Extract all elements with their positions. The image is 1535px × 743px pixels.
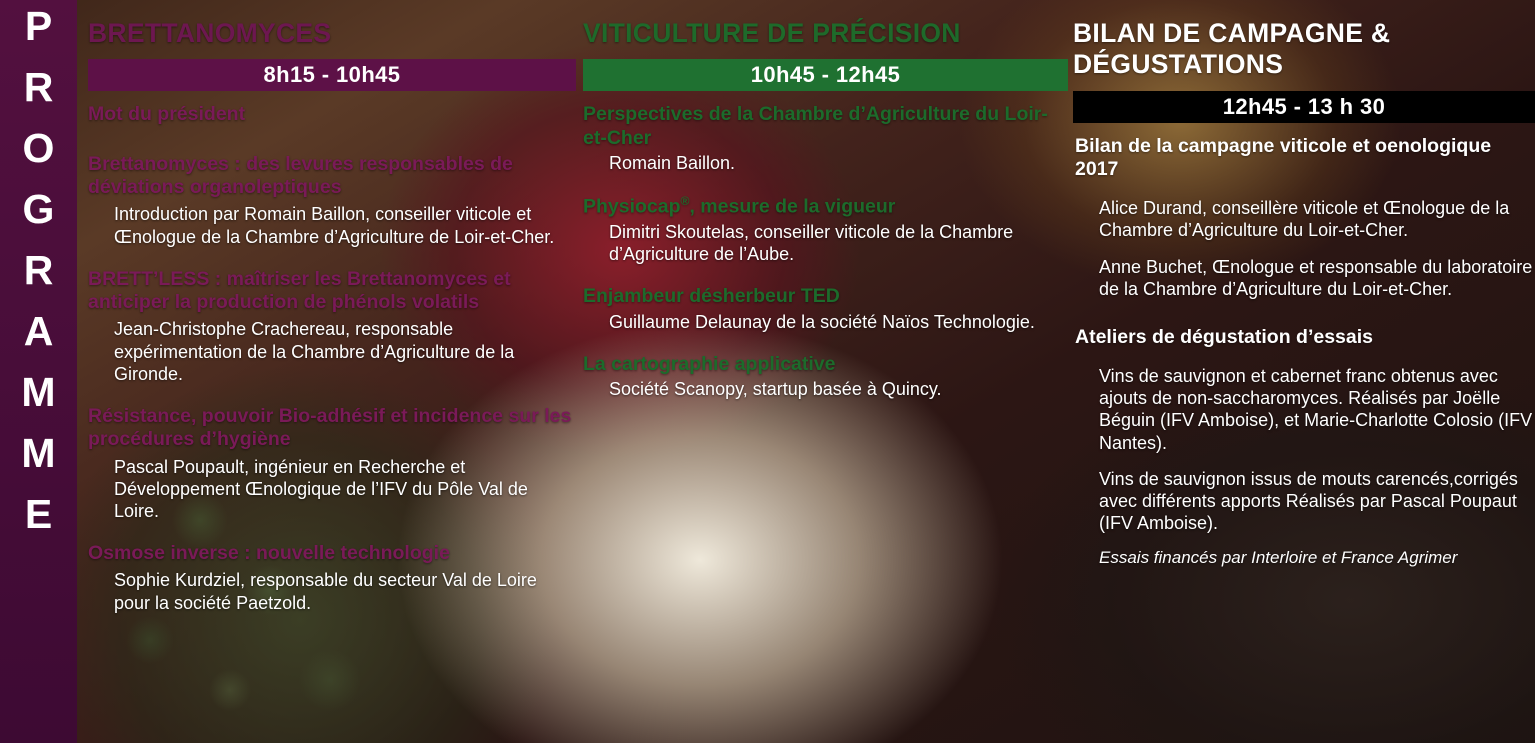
spacer [88, 528, 576, 542]
entry-description: Jean-Christophe Crachereau, responsable … [88, 318, 576, 384]
side-band-letter: R [24, 67, 54, 108]
column-title: BILAN DE CAMPAGNE & DÉGUSTATIONS [1073, 0, 1535, 81]
time-slot-bar: 8h15 - 10h45 [88, 59, 576, 91]
entry-description: Société Scanopy, startup basée à Quincy. [583, 378, 1068, 400]
program-entry: Physiocap®, mesure de la vigueur Dimitri… [583, 194, 1068, 265]
column-bilan-degustations: BILAN DE CAMPAGNE & DÉGUSTATIONS 12h45 -… [1073, 0, 1535, 585]
program-entry: Osmose inverse : nouvelle technologie So… [88, 542, 576, 614]
column-title: VITICULTURE DE PRÉCISION [583, 0, 1068, 49]
entry-title: Ateliers de dégustation d’essais [1073, 326, 1535, 349]
column-brettanomyces: BRETTANOMYCES 8h15 - 10h45 Mot du présid… [88, 0, 576, 620]
column-title: BRETTANOMYCES [88, 0, 576, 49]
side-band-letter: O [23, 128, 55, 169]
side-band-letter: M [21, 433, 55, 474]
time-slot-bar: 12h45 - 13 h 30 [1073, 91, 1535, 123]
column-body: Mot du président Brettanomyces : des lev… [88, 91, 576, 613]
side-band-letter: R [24, 250, 54, 291]
entry-title: Enjambeur désherbeur TED [583, 285, 1068, 308]
entry-description: Introduction par Romain Baillon, conseil… [88, 203, 576, 247]
entry-description-secondary: Anne Buchet, Œnologue et responsable du … [1073, 256, 1535, 300]
column-body: Perspectives de la Chambre d’Agriculture… [583, 91, 1068, 400]
column-viticulture-de-precision: VITICULTURE DE PRÉCISION 10h45 - 12h45 P… [583, 0, 1068, 406]
program-entry: BRETT’LESS : maîtriser les Brettanomyces… [88, 268, 576, 385]
column-body: Bilan de la campagne viticole et oenolog… [1073, 123, 1535, 569]
side-band-letter: A [24, 311, 54, 352]
entry-title: Perspectives de la Chambre d’Agriculture… [583, 103, 1068, 150]
entry-title: Mot du président [88, 103, 576, 126]
program-entry: Ateliers de dégustation d’essais Vins de… [1073, 326, 1535, 534]
spacer [1073, 242, 1535, 256]
entry-description: Pascal Poupault, ingénieur en Recherche … [88, 456, 576, 522]
entry-title: Physiocap®, mesure de la vigueur [583, 194, 1068, 219]
program-entry: La cartographie applicative Société Scan… [583, 353, 1068, 401]
side-band-letter: G [23, 189, 55, 230]
entry-description: Dimitri Skoutelas, conseiller viticole d… [583, 221, 1068, 265]
side-band-programme: P R O G R A M M E [0, 0, 77, 743]
spacer [1073, 351, 1535, 365]
program-entry: Mot du président [88, 103, 576, 126]
program-entry: Bilan de la campagne viticole et oenolog… [1073, 135, 1535, 300]
spacer [88, 391, 576, 405]
entry-title: Brettanomyces : des levures responsables… [88, 153, 576, 200]
program-poster: P R O G R A M M E BRETTANOMYCES 8h15 - 1… [0, 0, 1535, 743]
program-entry: Résistance, pouvoir Bio-adhésif et incid… [88, 405, 576, 522]
spacer [1073, 306, 1535, 326]
spacer [583, 271, 1068, 285]
spacer [583, 339, 1068, 353]
entry-title: Résistance, pouvoir Bio-adhésif et incid… [88, 405, 576, 452]
entry-description: Sophie Kurdziel, responsable du secteur … [88, 569, 576, 613]
spacer [88, 254, 576, 268]
spacer [88, 133, 576, 153]
entry-description: Vins de sauvignon et cabernet franc obte… [1073, 365, 1535, 454]
spacer [583, 180, 1068, 194]
entry-description-secondary: Vins de sauvignon issus de mouts carencé… [1073, 468, 1535, 534]
entry-title: Bilan de la campagne viticole et oenolog… [1073, 135, 1535, 182]
side-band-letter: P [25, 6, 52, 47]
entry-title-main: Physiocap [583, 196, 681, 218]
entry-title: La cartographie applicative [583, 353, 1068, 376]
side-band-letter: E [25, 494, 52, 535]
entry-description: Romain Baillon. [583, 152, 1068, 174]
entry-description: Alice Durand, conseillère viticole et Œn… [1073, 197, 1535, 241]
entry-title-rest: , mesure de la vigueur [689, 196, 895, 218]
entry-title: BRETT’LESS : maîtriser les Brettanomyces… [88, 268, 576, 315]
entry-description: Guillaume Delaunay de la société Naïos T… [583, 311, 1068, 333]
entry-title: Osmose inverse : nouvelle technologie [88, 542, 576, 565]
program-entry: Perspectives de la Chambre d’Agriculture… [583, 103, 1068, 174]
spacer [1073, 183, 1535, 197]
time-slot-bar: 10h45 - 12h45 [583, 59, 1068, 91]
side-band-letter: M [21, 372, 55, 413]
spacer [1073, 454, 1535, 468]
footnote: Essais financés par Interloire et France… [1073, 548, 1535, 568]
program-entry: Brettanomyces : des levures responsables… [88, 153, 576, 248]
program-entry: Enjambeur désherbeur TED Guillaume Delau… [583, 285, 1068, 333]
